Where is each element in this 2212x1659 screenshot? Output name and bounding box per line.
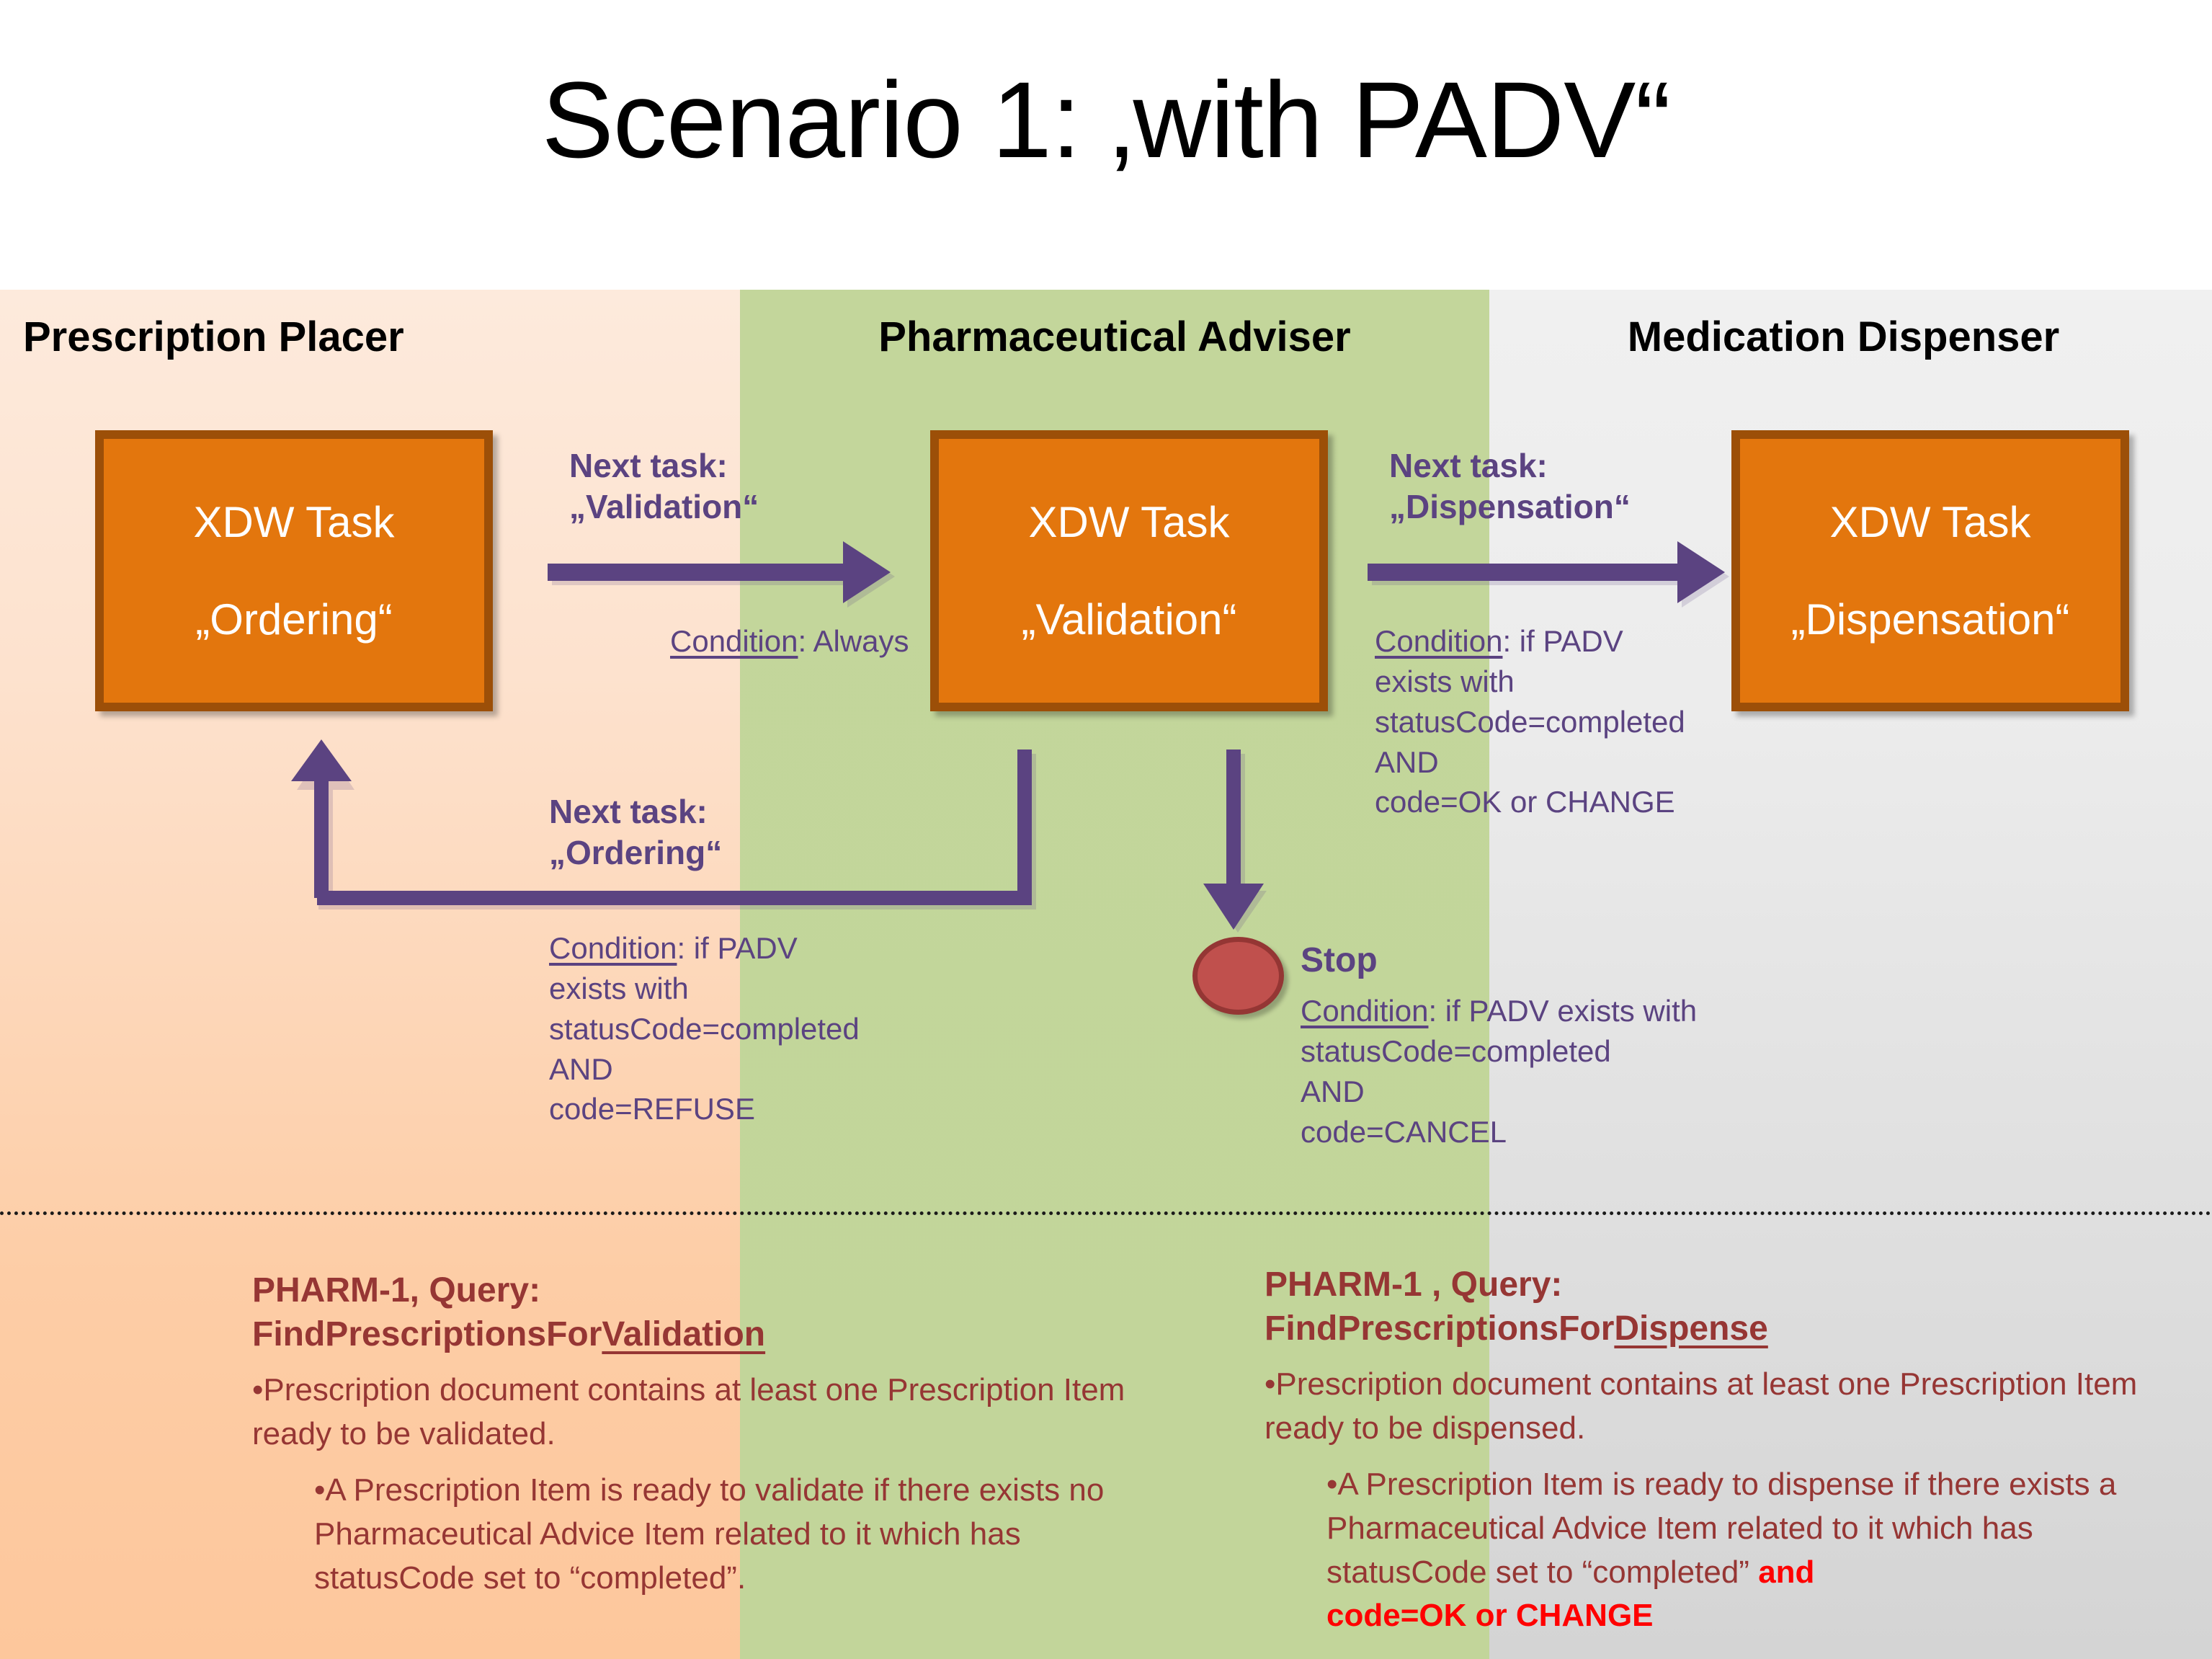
note-validation-heading: PHARM-1, Query: FindPrescriptionsForVali…	[252, 1268, 1153, 1357]
label-next-task-dispensation: Next task: „Dispensation“	[1389, 445, 1631, 527]
label-condition-stop-line2: statusCode=completed	[1301, 1031, 1805, 1072]
task-box-validation-title: XDW Task	[1029, 497, 1230, 547]
label-condition-ordering-value: : if PADV	[677, 931, 797, 965]
arrow-validation-to-dispensation	[1368, 530, 1728, 616]
label-condition-stop-keyword: Condition	[1301, 994, 1428, 1028]
label-condition-ordering-line5: code=REFUSE	[549, 1089, 996, 1129]
task-box-validation[interactable]: XDW Task „Validation“	[930, 430, 1328, 711]
swimlane-label-pharmaceutical-adviser: Pharmaceutical Adviser	[740, 313, 1489, 361]
note-dispense-heading-underlined: Dispense	[1614, 1309, 1767, 1348]
label-condition-ordering: Condition: if PADV exists with statusCod…	[549, 928, 996, 1129]
label-condition-dispensation-value: : if PADV	[1502, 624, 1623, 658]
label-condition-stop-line3: AND	[1301, 1072, 1805, 1112]
task-box-dispensation-title: XDW Task	[1830, 497, 2031, 547]
label-next-task-dispensation-line2: „Dispensation“	[1389, 486, 1631, 528]
label-condition-stop-value: : if PADV exists with	[1428, 994, 1697, 1028]
label-stop: Stop	[1301, 940, 1378, 980]
label-condition-dispensation-line2: exists with	[1375, 662, 1821, 702]
label-condition-stop-line4: code=CANCEL	[1301, 1112, 1805, 1152]
label-condition-dispensation-line5: code=OK or CHANGE	[1375, 782, 1821, 822]
label-next-task-validation-line2: „Validation“	[569, 486, 759, 528]
label-next-task-validation-line1: Next task:	[569, 445, 759, 486]
label-condition-ordering-line4: AND	[549, 1049, 996, 1090]
label-condition-always-value: : Always	[798, 624, 909, 658]
label-condition-ordering-line1: Condition: if PADV	[549, 928, 996, 969]
label-next-task-ordering-line2: „Ordering“	[549, 832, 722, 873]
note-dispense-heading-line2: FindPrescriptionsForDispense	[1265, 1307, 2158, 1351]
label-condition-ordering-line3: statusCode=completed	[549, 1009, 996, 1049]
label-condition-always-keyword: Condition	[670, 624, 798, 658]
label-condition-dispensation-keyword: Condition	[1375, 624, 1502, 658]
note-validation-bullet-2: •A Prescription Item is ready to validat…	[314, 1469, 1153, 1600]
label-next-task-ordering-line1: Next task:	[549, 791, 722, 832]
arrow-validation-to-stop	[1196, 750, 1290, 930]
note-dispense-heading: PHARM-1 , Query: FindPrescriptionsForDis…	[1265, 1263, 2158, 1351]
note-validation-bullet-1: •Prescription document contains at least…	[252, 1369, 1153, 1456]
note-dispense-bullet-2-code: code=OK or CHANGE	[1326, 1598, 1654, 1633]
label-condition-stop: Condition: if PADV exists with statusCod…	[1301, 991, 1805, 1152]
task-box-ordering-title: XDW Task	[194, 497, 395, 547]
note-dispense-heading-plain: FindPrescriptionsFor	[1265, 1309, 1614, 1348]
slide-canvas: Scenario 1: ‚with PADV“ Prescription Pla…	[0, 0, 2212, 1659]
label-condition-dispensation: Condition: if PADV exists with statusCod…	[1375, 621, 1821, 822]
note-dispense-heading-line1: PHARM-1 , Query:	[1265, 1263, 2158, 1307]
note-dispense-bullet-1: •Prescription document contains at least…	[1265, 1363, 2158, 1450]
note-dispense-bullet-2-text: •A Prescription Item is ready to dispens…	[1326, 1467, 2116, 1589]
task-box-dispensation-name: „Dispensation“	[1791, 595, 2070, 644]
note-validation-heading-line1: PHARM-1, Query:	[252, 1268, 1153, 1312]
note-validation-heading-plain: FindPrescriptionsFor	[252, 1315, 602, 1353]
note-validation-heading-underlined: Validation	[602, 1315, 765, 1353]
note-find-prescriptions-for-validation: PHARM-1, Query: FindPrescriptionsForVali…	[252, 1268, 1153, 1600]
note-find-prescriptions-for-dispense: PHARM-1 , Query: FindPrescriptionsForDis…	[1265, 1263, 2158, 1638]
label-next-task-validation: Next task: „Validation“	[569, 445, 759, 527]
task-box-validation-name: „Validation“	[1021, 595, 1236, 644]
note-validation-heading-line2: FindPrescriptionsForValidation	[252, 1312, 1153, 1356]
task-box-ordering[interactable]: XDW Task „Ordering“	[95, 430, 493, 711]
task-box-ordering-name: „Ordering“	[195, 595, 392, 644]
swimlane-label-prescription-placer: Prescription Placer	[23, 313, 404, 361]
swimlane-label-medication-dispenser: Medication Dispenser	[1489, 313, 2212, 361]
label-condition-dispensation-line3: statusCode=completed	[1375, 702, 1821, 742]
section-divider	[0, 1211, 2212, 1215]
label-condition-dispensation-line4: AND	[1375, 742, 1821, 783]
label-next-task-ordering: Next task: „Ordering“	[549, 791, 722, 873]
label-condition-always: Condition: Always	[670, 621, 909, 662]
label-condition-stop-line1: Condition: if PADV exists with	[1301, 991, 1805, 1031]
arrow-ordering-to-validation	[548, 530, 893, 616]
label-condition-dispensation-line1: Condition: if PADV	[1375, 621, 1821, 662]
page-title: Scenario 1: ‚with PADV“	[0, 63, 2212, 177]
note-dispense-bullet-2-and: and	[1758, 1555, 1814, 1590]
stop-node-icon	[1192, 937, 1284, 1015]
note-dispense-bullet-2: •A Prescription Item is ready to dispens…	[1326, 1463, 2158, 1638]
label-condition-ordering-keyword: Condition	[549, 931, 677, 965]
label-condition-ordering-line2: exists with	[549, 969, 996, 1009]
label-next-task-dispensation-line1: Next task:	[1389, 445, 1631, 486]
